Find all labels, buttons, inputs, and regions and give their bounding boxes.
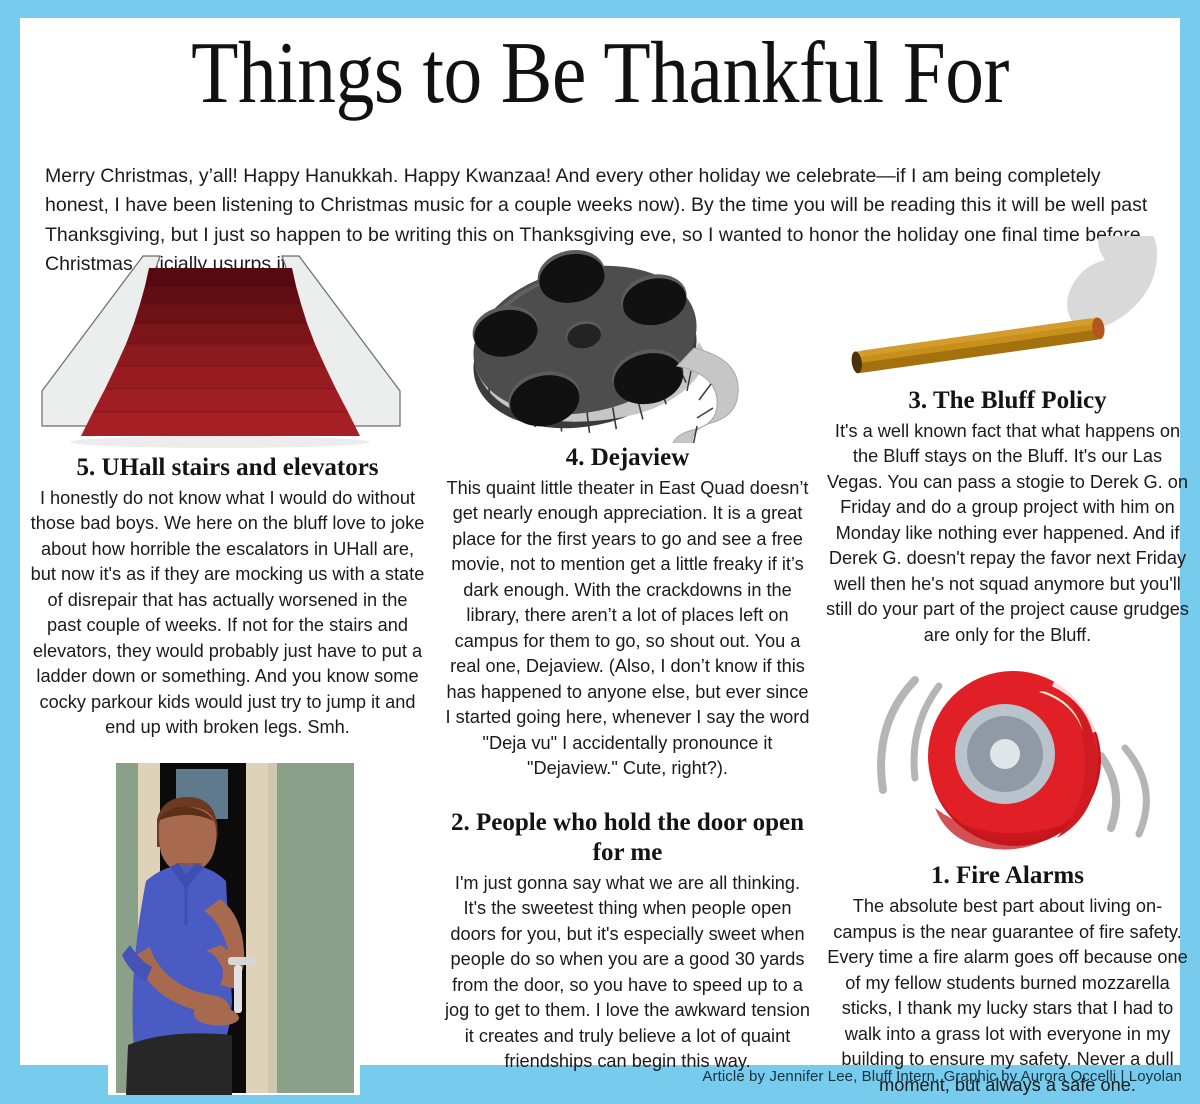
infographic-page: Things to Be Thankful For Merry Christma… (0, 0, 1200, 1093)
film-reel-illustration (445, 248, 810, 443)
section-dejaview: 4. Dejaview This quaint little theater i… (445, 443, 810, 782)
column-right: 3. The Bluff Policy It's a well known fa… (825, 236, 1190, 1104)
fire-alarm-bell-illustration (825, 656, 1190, 861)
section-heading-uhall-stairs: 5. UHall stairs and elevators (30, 453, 425, 483)
section-bluff-policy: 3. The Bluff Policy It's a well known fa… (825, 386, 1190, 648)
smoking-cigar-illustration (825, 236, 1190, 386)
section-heading-door-holders: 2. People who hold the door open for me (445, 808, 810, 868)
section-fire-alarms: 1. Fire Alarms The absolute best part ab… (825, 861, 1190, 1098)
footer-credit: Article by Jennifer Lee, Bluff Intern, G… (0, 1068, 1200, 1085)
white-content-panel: Things to Be Thankful For Merry Christma… (20, 18, 1180, 1065)
section-uhall-stairs: 5. UHall stairs and elevators I honestly… (30, 453, 425, 741)
section-heading-bluff-policy: 3. The Bluff Policy (825, 386, 1190, 416)
section-body-door-holders: I'm just gonna say what we are all think… (445, 871, 810, 1075)
section-body-dejaview: This quaint little theater in East Quad … (445, 476, 810, 782)
section-heading-dejaview: 4. Dejaview (445, 443, 810, 473)
red-carpet-stairs-illustration (30, 248, 425, 453)
column-middle: 4. Dejaview This quaint little theater i… (445, 248, 810, 1081)
section-door-holders: 2. People who hold the door open for me … (445, 808, 810, 1075)
section-heading-fire-alarms: 1. Fire Alarms (825, 861, 1190, 891)
section-body-bluff-policy: It's a well known fact that what happens… (825, 419, 1190, 648)
section-body-uhall-stairs: I honestly do not know what I would do w… (30, 486, 425, 741)
column-left: 5. UHall stairs and elevators I honestly… (30, 248, 425, 1099)
person-holding-door-illustration (30, 759, 425, 1099)
page-title: Things to Be Thankful For (90, 28, 1111, 120)
